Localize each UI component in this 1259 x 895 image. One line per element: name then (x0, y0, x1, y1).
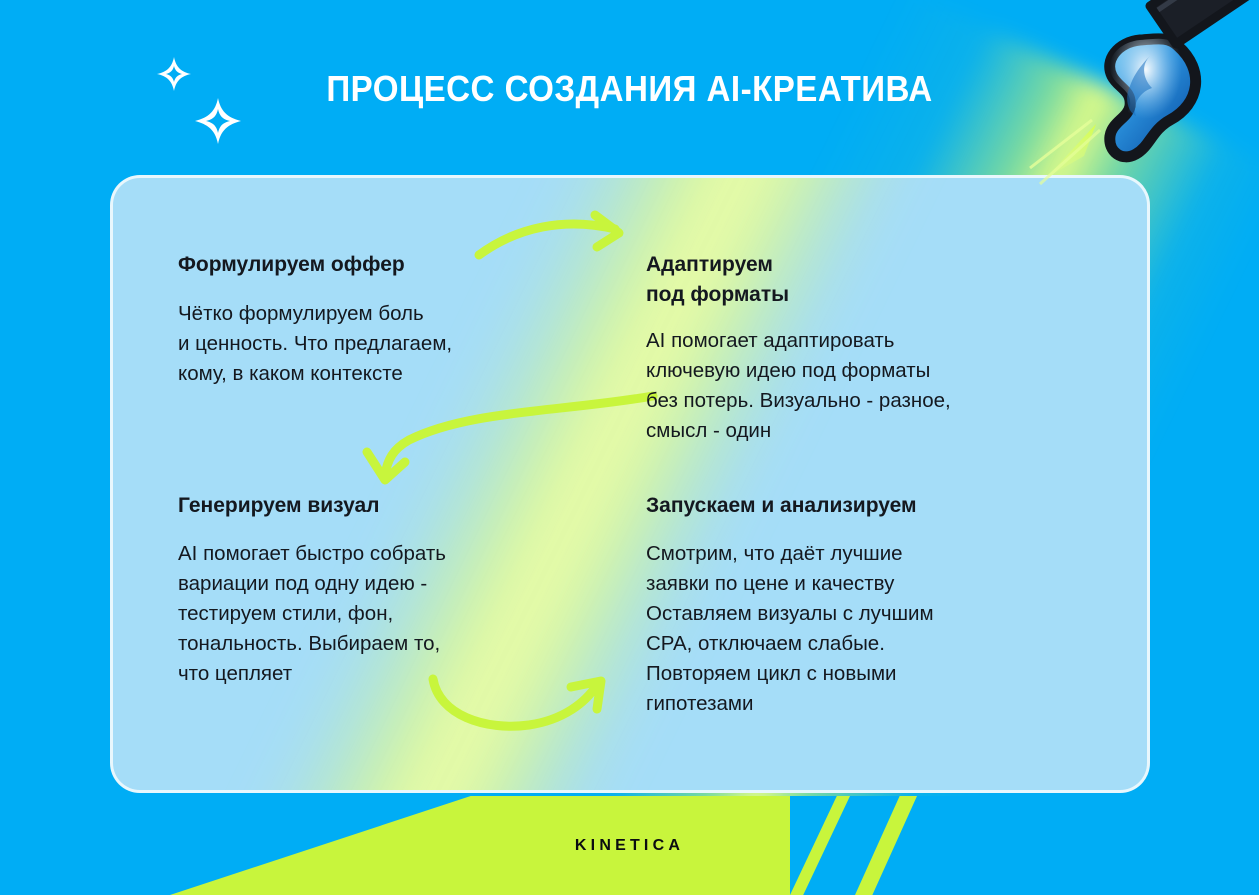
step-body: Чётко формулируем боль и ценность. Что п… (178, 299, 568, 389)
step-heading: Адаптируем под форматы (646, 250, 1116, 310)
pen-collar (1150, 0, 1259, 44)
infographic-canvas: ПРОЦЕСС СОЗДАНИЯ AI-КРЕАТИВА Формулируем… (0, 0, 1259, 895)
light-beam-rays (1030, 120, 1100, 184)
step-body: Смотрим, что даёт лучшие заявки по цене … (646, 539, 1116, 720)
step-body: AI помогает адаптировать ключевую идею п… (646, 326, 1116, 447)
step-heading: Запускаем и анализируем (646, 491, 1116, 521)
step-heading: Генерируем визуал (178, 491, 578, 521)
step-heading: Формулируем оффер (178, 250, 568, 280)
step-offer: Формулируем оффер Чётко формулируем боль… (178, 250, 568, 389)
step-adapt: Адаптируем под форматы AI помогает адапт… (646, 250, 1116, 446)
marker-pen-icon (1000, 0, 1259, 200)
footer: KINETICA (0, 796, 1259, 895)
step-body: AI помогает быстро собрать вариации под … (178, 539, 578, 690)
step-visual: Генерируем визуал AI помогает быстро соб… (178, 491, 578, 689)
brand-logo: KINETICA (0, 796, 1259, 895)
content-card: Формулируем оффер Чётко формулируем боль… (110, 175, 1150, 793)
step-launch: Запускаем и анализируем Смотрим, что даё… (646, 491, 1116, 720)
brush-tip (1110, 39, 1196, 157)
